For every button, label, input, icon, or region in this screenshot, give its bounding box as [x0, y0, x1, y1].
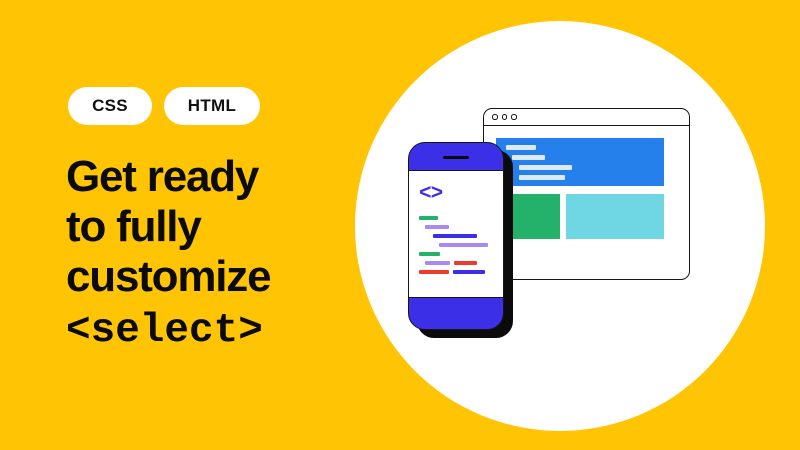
badge-html-label: HTML	[188, 96, 236, 116]
promo-banner: CSS HTML Get ready to fully customize <s…	[0, 0, 800, 450]
hero-text-bar-3	[519, 165, 572, 170]
illustration: <>	[340, 0, 800, 450]
code-line-1	[419, 216, 438, 220]
code-line-3	[433, 234, 477, 238]
code-line-5	[419, 252, 440, 256]
window-dot-icon-2	[502, 114, 508, 120]
code-line-6	[425, 261, 450, 265]
headline-line-3: customize	[66, 252, 270, 302]
phone-speaker-notch	[443, 156, 469, 159]
headline: Get ready to fully customize <select>	[66, 152, 270, 356]
headline-line-2: to fully	[66, 202, 270, 252]
headline-line-1: Get ready	[66, 152, 270, 202]
code-line-2	[425, 225, 449, 229]
code-brackets-icon: <>	[419, 184, 442, 205]
tag-badge-row: CSS HTML	[68, 87, 260, 125]
hero-text-bar-4	[519, 175, 565, 180]
phone-body: <>	[408, 142, 504, 330]
code-line-8	[419, 270, 449, 274]
window-dot-icon-1	[492, 114, 498, 120]
browser-title-bar	[484, 109, 689, 126]
browser-panel-cyan	[566, 194, 664, 239]
code-line-7	[454, 261, 477, 265]
badge-css-label: CSS	[92, 96, 128, 116]
browser-hero-block	[496, 138, 664, 186]
left-content-panel: CSS HTML Get ready to fully customize <s…	[0, 0, 360, 450]
badge-css: CSS	[68, 87, 152, 125]
headline-code-select: <select>	[66, 306, 270, 356]
badge-html: HTML	[164, 87, 260, 125]
phone-screen: <>	[409, 170, 503, 298]
code-line-9	[453, 270, 485, 274]
code-line-4	[439, 243, 488, 247]
phone-illustration: <>	[408, 142, 518, 338]
window-dot-icon-3	[511, 114, 517, 120]
